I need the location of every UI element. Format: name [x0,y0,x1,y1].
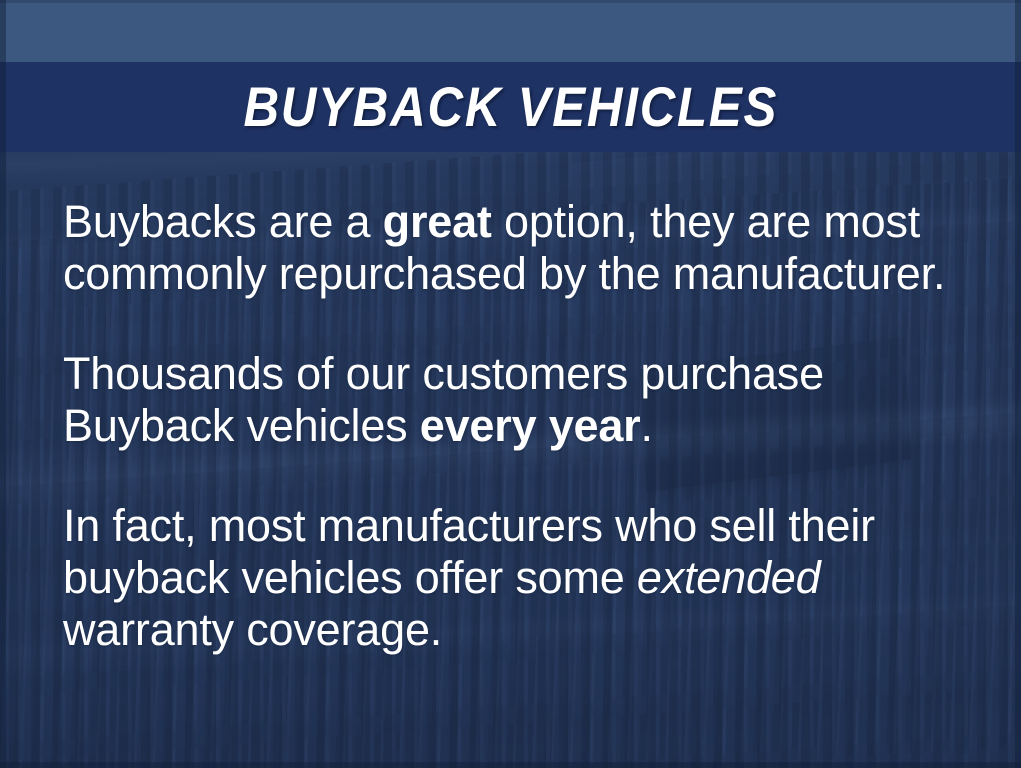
paragraph-2-run-1: every year [420,400,641,451]
paragraph-1-run-1: great [383,196,492,247]
paragraph-1-run-0: Buybacks are a [63,196,383,247]
paragraph-3-run-2: warranty coverage. [63,604,442,655]
header-title-band: BUYBACK VEHICLES [0,62,1021,152]
slide-edge-left [0,0,6,768]
body-copy: Buybacks are a great option, they are mo… [63,196,981,656]
page-title: BUYBACK VEHICLES [243,79,778,135]
header-top-band [0,0,1021,62]
slide-edge-right [1015,0,1021,768]
slide-edge-bottom [0,762,1021,768]
paragraph-2-run-2: . [641,400,653,451]
paragraph-3: In fact, most manufacturers who sell the… [63,500,981,656]
paragraph-3-run-1: extended [637,552,821,603]
paragraph-1: Buybacks are a great option, they are mo… [63,196,981,300]
slide-edge-top [0,0,1021,3]
paragraph-2: Thousands of our customers purchase Buyb… [63,348,981,452]
slide-root: BUYBACK VEHICLES Buybacks are a great op… [0,0,1021,768]
